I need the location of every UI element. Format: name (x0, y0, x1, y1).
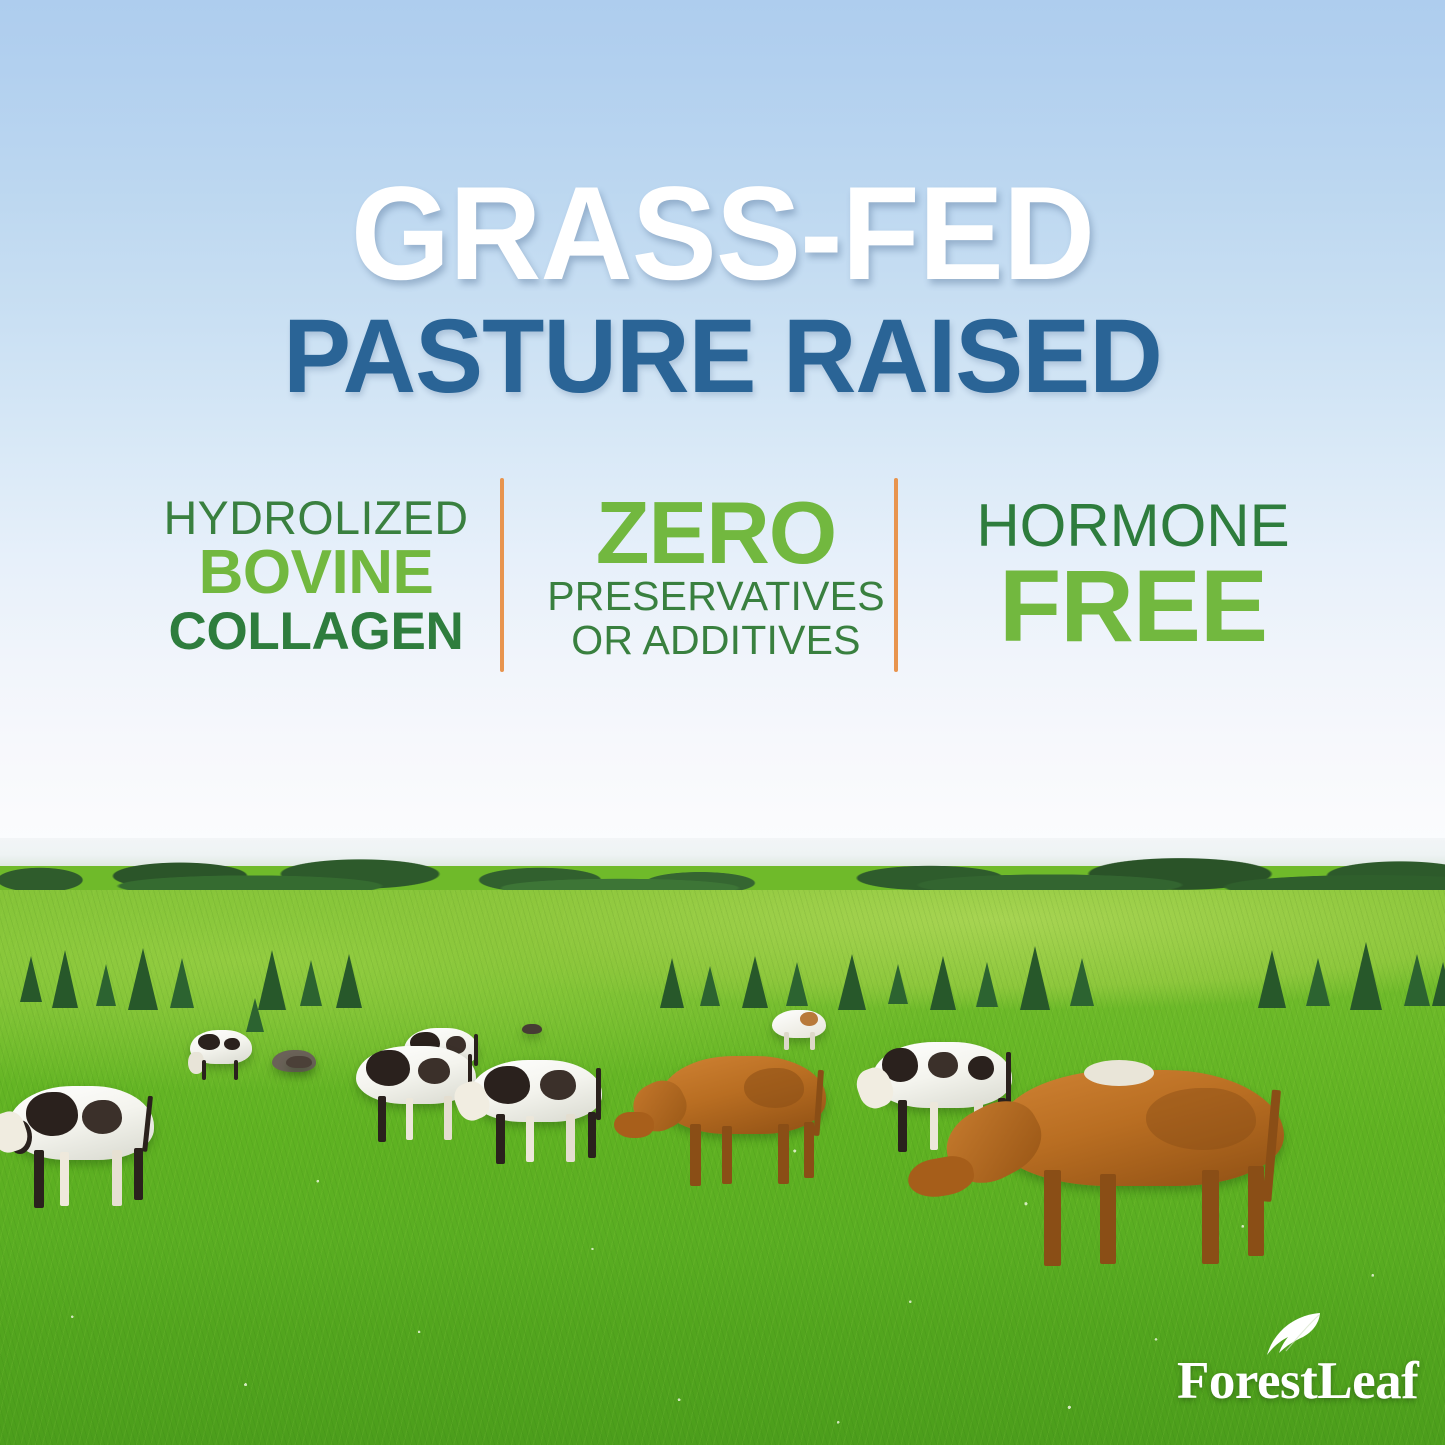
conifer-tree (660, 958, 684, 1008)
conifer-tree (888, 964, 908, 1004)
cow-holstein-mid-b (470, 1060, 602, 1122)
feature-3-line-2: FREE (938, 556, 1328, 656)
conifer-tree (300, 960, 322, 1006)
conifer-tree (1404, 954, 1430, 1006)
conifer-tree (170, 958, 194, 1008)
brand-name: ForestLeaf (1177, 1355, 1409, 1408)
conifer-tree (1306, 958, 1330, 1006)
feature-2-line-3: OR ADDITIVES (546, 618, 886, 662)
conifer-tree (336, 954, 362, 1008)
feature-1-line-3: COLLAGEN (140, 604, 492, 660)
conifer-tree (96, 964, 116, 1006)
feature-hormone-free: HORMONE FREE (938, 478, 1328, 674)
cow-brown-foreground-right (996, 1070, 1284, 1186)
cow-holstein-right (872, 1042, 1012, 1108)
product-marketing-poster: GRASS-FED PASTURE RAISED HYDROLIZED BOVI… (0, 0, 1445, 1445)
feature-3-line-1: HORMONE (938, 496, 1328, 556)
conifer-tree (976, 962, 998, 1007)
feature-hydrolized-bovine-collagen: HYDROLIZED BOVINE COLLAGEN (140, 478, 492, 674)
conifer-tree (1020, 946, 1050, 1010)
conifer-tree (838, 954, 866, 1010)
headline-block: GRASS-FED PASTURE RAISED (0, 176, 1445, 406)
feature-2-line-2: PRESERVATIVES (546, 574, 886, 618)
cow-holstein-distant-left (190, 1030, 252, 1064)
bird-speck (522, 1024, 542, 1034)
pasture-photo: ForestLeaf (0, 838, 1445, 1445)
feature-divider-1 (500, 478, 504, 672)
cow-brown-center (660, 1056, 826, 1134)
feature-divider-2 (894, 478, 898, 672)
conifer-tree (700, 966, 720, 1006)
conifer-tree (52, 950, 78, 1008)
conifer-tree (1350, 942, 1382, 1010)
feature-zero-preservatives: ZERO PRESERVATIVES OR ADDITIVES (546, 478, 886, 674)
conifer-tree (786, 962, 808, 1006)
bird-speck (286, 1056, 312, 1068)
conifer-tree (1070, 958, 1094, 1006)
headline-primary: GRASS-FED (29, 176, 1416, 292)
feature-row: HYDROLIZED BOVINE COLLAGEN ZERO PRESERVA… (0, 478, 1445, 674)
feature-2-line-1: ZERO (546, 491, 886, 574)
conifer-tree (128, 948, 158, 1010)
cow-holstein-foreground-left (8, 1086, 154, 1160)
conifer-tree (930, 956, 956, 1010)
conifer-tree (1432, 962, 1445, 1006)
conifer-tree (1258, 950, 1286, 1008)
feature-1-line-1: HYDROLIZED (142, 493, 490, 542)
conifer-tree (742, 956, 768, 1008)
feature-1-line-2: BOVINE (140, 542, 492, 604)
brand-logo: ForestLeaf (1177, 1311, 1409, 1423)
conifer-tree (246, 998, 264, 1032)
sky-background (0, 0, 1445, 852)
headline-secondary: PASTURE RAISED (22, 308, 1424, 406)
conifer-tree (20, 956, 42, 1002)
cow-white-ridge (772, 1010, 826, 1038)
